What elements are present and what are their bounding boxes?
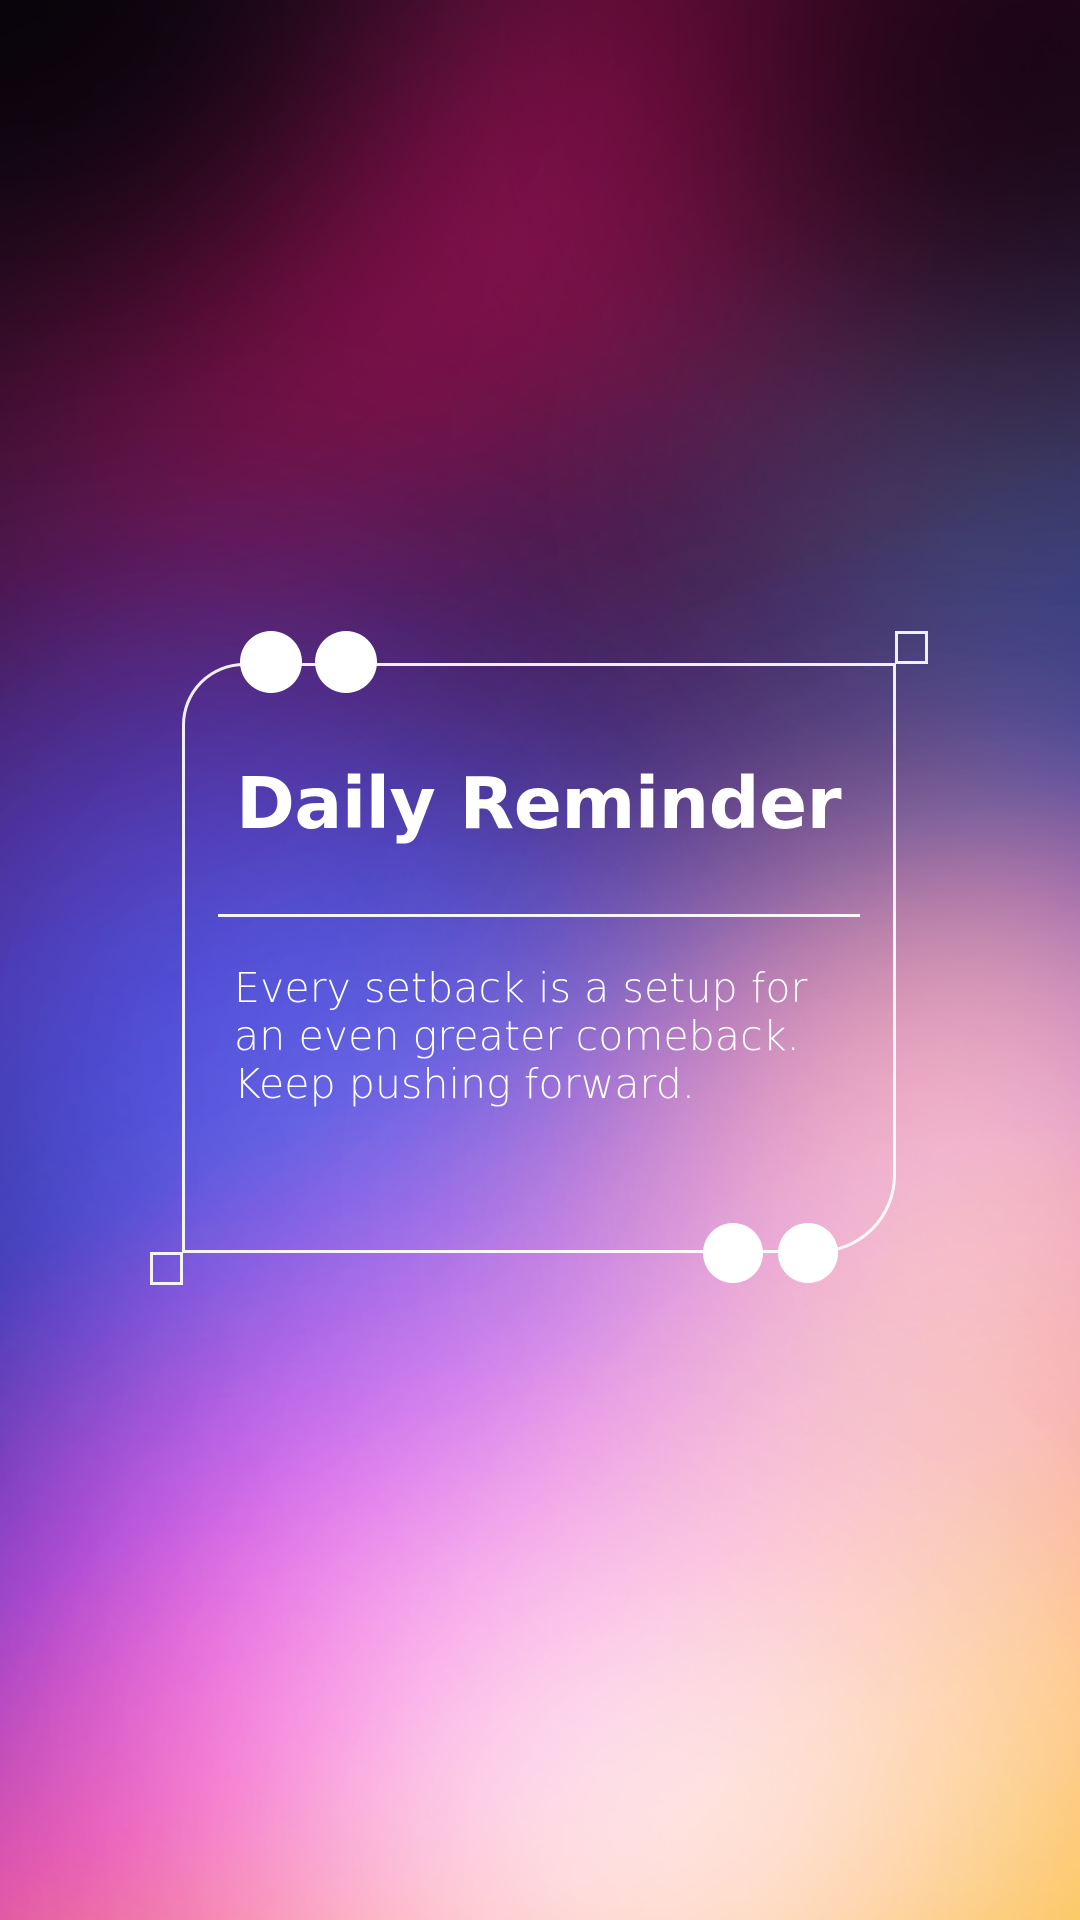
corner-square-bottom-left-icon (150, 1252, 183, 1285)
corner-square-top-right-icon (895, 631, 928, 664)
body-line: an even greater comeback. (234, 1013, 854, 1061)
card-title: Daily Reminder (236, 768, 841, 839)
body-line: Every setback is a setup for (234, 965, 854, 1013)
poster-canvas: Daily Reminder Every setback is a setup … (0, 0, 1080, 1920)
card-content: Daily Reminder Every setback is a setup … (218, 663, 860, 1253)
title-divider (218, 914, 860, 917)
quote-card: Daily Reminder Every setback is a setup … (182, 663, 896, 1253)
body-line: Keep pushing forward. (234, 1061, 854, 1109)
card-body-text: Every setback is a setup for an even gre… (234, 965, 854, 1109)
